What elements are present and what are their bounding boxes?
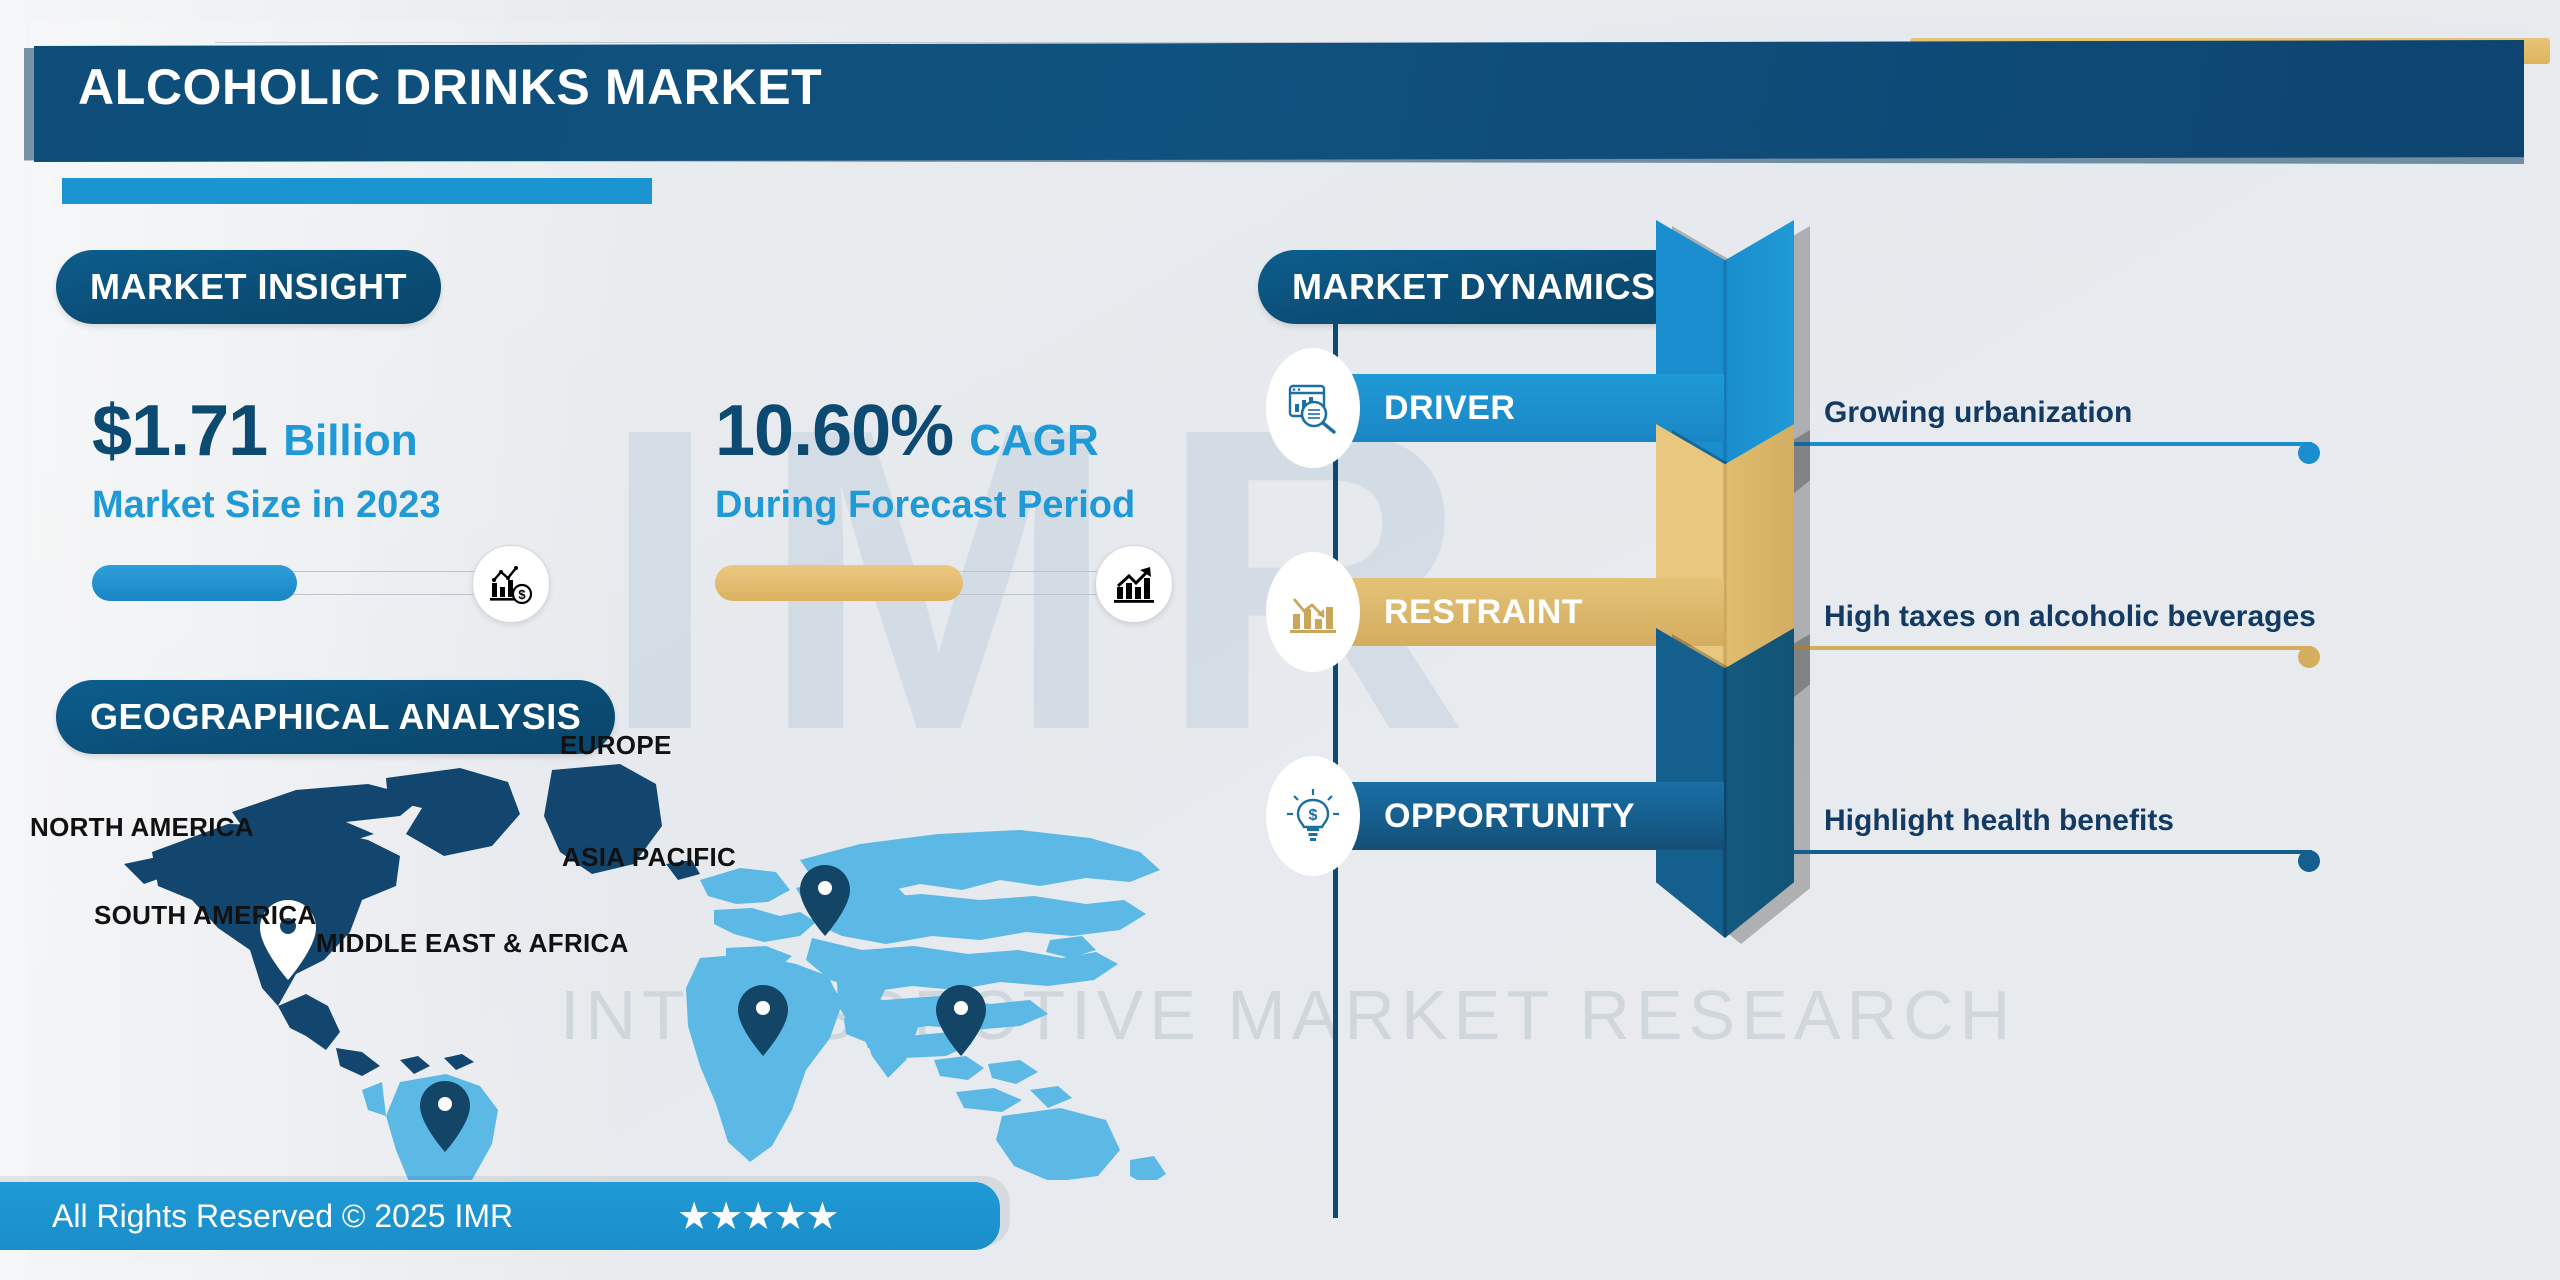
opportunity-text: Highlight health benefits xyxy=(1824,804,2174,838)
dynamics-item-opportunity[interactable]: $ OPPORTUNITY Highlight health benefits xyxy=(1258,686,2558,916)
stat-market-size-unit: Billion xyxy=(283,416,417,466)
stat-cagr-unit: CAGR xyxy=(969,416,1099,466)
declining-bar-chart-icon xyxy=(1266,552,1360,672)
restraint-connector-line xyxy=(1794,646,2312,650)
opportunity-label: OPPORTUNITY xyxy=(1384,782,1635,850)
stat-market-size-value-row: $1.71 Billion xyxy=(92,390,652,472)
svg-text:$: $ xyxy=(1309,807,1318,824)
driver-connector-dot xyxy=(2298,442,2320,464)
geographical-analysis-pill-label: GEOGRAPHICAL ANALYSIS xyxy=(90,696,581,738)
dynamics-item-restraint[interactable]: RESTRAINT High taxes on alcoholic bevera… xyxy=(1258,482,2558,712)
footer-copyright: All Rights Reserved © 2025 IMR xyxy=(52,1198,513,1235)
map-label-europe: EUROPE xyxy=(560,730,672,761)
opportunity-connector-line xyxy=(1794,850,2312,854)
bar-chart-dollar-icon: $ xyxy=(472,545,550,623)
stat-cagr-caption: During Forecast Period xyxy=(715,484,1285,527)
market-dynamics-timeline: DRIVER Growing urbanization xyxy=(1258,318,2558,1280)
market-insight-pill: MARKET INSIGHT xyxy=(56,250,441,324)
world-map: NORTH AMERICA EUROPE ASIA PACIFIC SOUTH … xyxy=(100,760,1180,1180)
stat-cagr-value: 10.60% xyxy=(715,390,953,472)
map-label-middle-east-africa: MIDDLE EAST & AFRICA xyxy=(316,928,629,959)
stat-cagr: 10.60% CAGR During Forecast Period xyxy=(715,390,1285,605)
page-title: ALCOHOLIC DRINKS MARKET xyxy=(78,58,822,116)
stat-market-size-value: $1.71 xyxy=(92,390,267,472)
opportunity-connector-dot xyxy=(2298,850,2320,872)
progress-fill xyxy=(715,565,963,601)
svg-text:$: $ xyxy=(518,587,526,602)
stat-market-size-caption: Market Size in 2023 xyxy=(92,484,652,527)
market-insight-pill-label: MARKET INSIGHT xyxy=(90,266,407,308)
header-accent-underline xyxy=(62,178,652,204)
map-africa-middle-east xyxy=(686,954,890,1162)
geographical-analysis-pill: GEOGRAPHICAL ANALYSIS xyxy=(56,680,615,754)
stat-market-size-progress: $ xyxy=(92,561,512,605)
rating-stars-icon: ★★★★★ xyxy=(677,1194,837,1239)
progress-fill xyxy=(92,565,297,601)
restraint-text: High taxes on alcoholic beverages xyxy=(1824,600,2316,634)
map-label-north-america: NORTH AMERICA xyxy=(30,812,254,843)
map-label-south-america: SOUTH AMERICA xyxy=(94,900,317,931)
restraint-connector-dot xyxy=(2298,646,2320,668)
lightbulb-dollar-icon: $ xyxy=(1266,756,1360,876)
stat-market-size: $1.71 Billion Market Size in 2023 $ xyxy=(92,390,652,605)
growth-arrow-icon xyxy=(1095,545,1173,623)
restraint-label: RESTRAINT xyxy=(1384,578,1583,646)
map-label-asia-pacific: ASIA PACIFIC xyxy=(562,842,736,873)
driver-connector-line xyxy=(1794,442,2312,446)
driver-label: DRIVER xyxy=(1384,374,1515,442)
footer-bar: All Rights Reserved © 2025 IMR ★★★★★ xyxy=(0,1182,1000,1250)
report-analysis-icon xyxy=(1266,348,1360,468)
world-map-svg xyxy=(100,760,1180,1180)
dynamics-item-driver[interactable]: DRIVER Growing urbanization xyxy=(1258,278,2558,508)
stat-cagr-progress xyxy=(715,561,1135,605)
stat-cagr-value-row: 10.60% CAGR xyxy=(715,390,1285,472)
driver-text: Growing urbanization xyxy=(1824,396,2132,430)
map-australia-oceania xyxy=(996,1108,1166,1180)
infographic-page: IMR INTROSPECTIVE MARKET RESEARCH ALCOHO… xyxy=(0,0,2560,1280)
